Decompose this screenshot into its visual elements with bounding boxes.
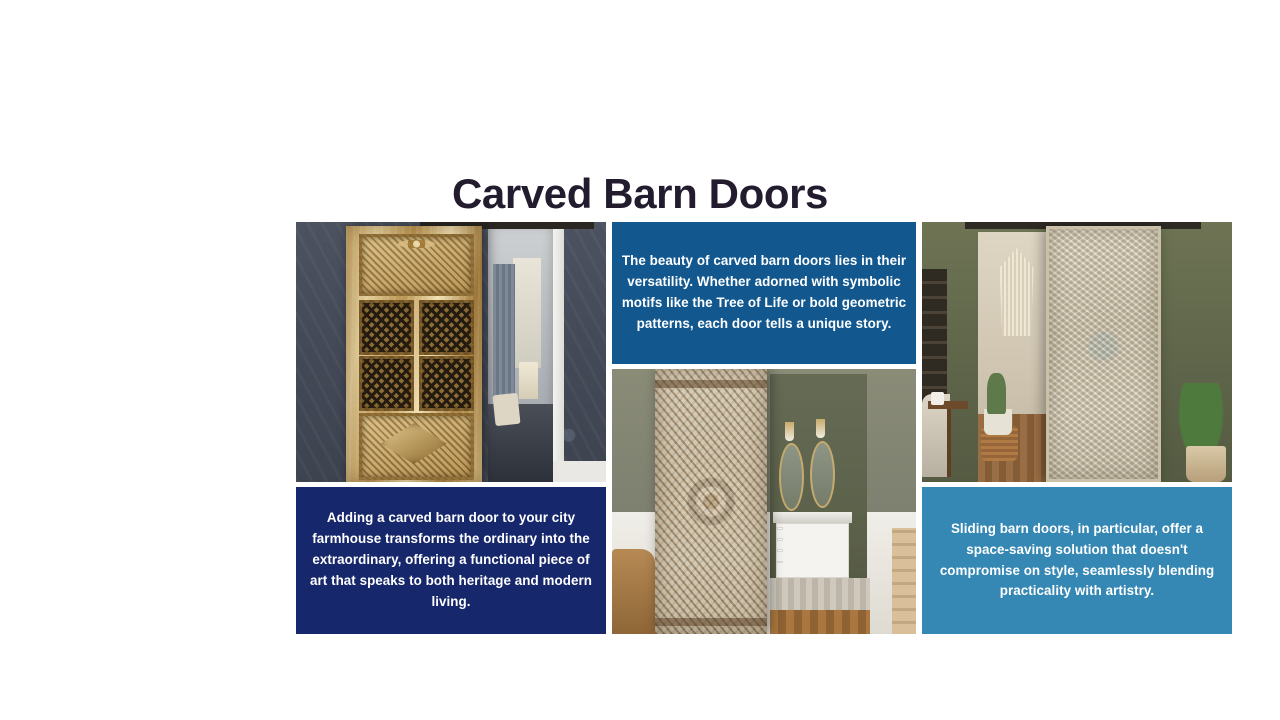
oval-mirror-right [810, 441, 835, 509]
window [513, 258, 541, 367]
lattice-panel-4 [419, 356, 474, 411]
lattice-panel-2 [419, 300, 474, 355]
door-trim [553, 222, 564, 482]
wood-floor [770, 610, 870, 634]
planter-basket [1186, 446, 1226, 482]
text-top-center-body: The beauty of carved barn doors lies in … [618, 251, 910, 335]
collage-image-top-left: Antique gold carved wooden barn door mou… [296, 222, 606, 482]
marble-countertop [773, 512, 852, 523]
scene-mandala-carved-door [612, 369, 916, 634]
white-vanity [776, 523, 849, 579]
poster-canvas: Carved Barn Doors [0, 0, 1280, 720]
lattice-panel-3 [359, 356, 414, 411]
whitewashed-carved-door [1046, 226, 1161, 482]
scene-whitewashed-carved-door [922, 222, 1232, 482]
collage-text-bottom-right: Sliding barn doors, in particular, offer… [922, 487, 1232, 634]
text-bottom-right-body: Sliding barn doors, in particular, offer… [928, 519, 1226, 603]
scene-gold-carved-door [296, 222, 606, 482]
vanity-drawer [777, 538, 783, 540]
image-text-collage-grid: Antique gold carved wooden barn door mou… [296, 222, 1232, 624]
collage-text-top-center: The beauty of carved barn doors lies in … [612, 222, 916, 364]
floor-lamp [519, 362, 538, 398]
door-panel-top [359, 234, 474, 296]
baseboard [553, 461, 606, 482]
wooden-bench [612, 549, 655, 634]
vanity-drawer [777, 527, 783, 529]
collage-text-bottom-left: Adding a carved barn door to your city f… [296, 487, 606, 634]
door-top-band [655, 380, 767, 388]
bath-rug [770, 578, 870, 612]
wall-sconce-left [785, 422, 794, 441]
right-wood-trim [892, 528, 916, 634]
collage-image-top-right: Whitewashed floral carved sliding barn d… [922, 222, 1232, 482]
bookshelf [922, 269, 947, 412]
mandala-carved-door [655, 369, 767, 634]
table-leg [947, 409, 952, 477]
text-bottom-left-body: Adding a carved barn door to your city f… [302, 508, 600, 613]
collage-image-center-bottom: Ornate mandala carved barn door in front… [612, 369, 916, 634]
vanity-drawer [777, 561, 783, 563]
cup [931, 392, 943, 405]
cushion [493, 392, 521, 426]
cactus [987, 373, 1006, 415]
gold-carved-door [346, 226, 482, 482]
lattice-panel-1 [359, 300, 414, 355]
carved-medallion [398, 240, 435, 248]
wall-sconce-right [816, 419, 825, 438]
page-title: Carved Barn Doors [0, 171, 1280, 217]
vanity-drawer [777, 549, 783, 551]
door-bottom-band [655, 618, 767, 626]
